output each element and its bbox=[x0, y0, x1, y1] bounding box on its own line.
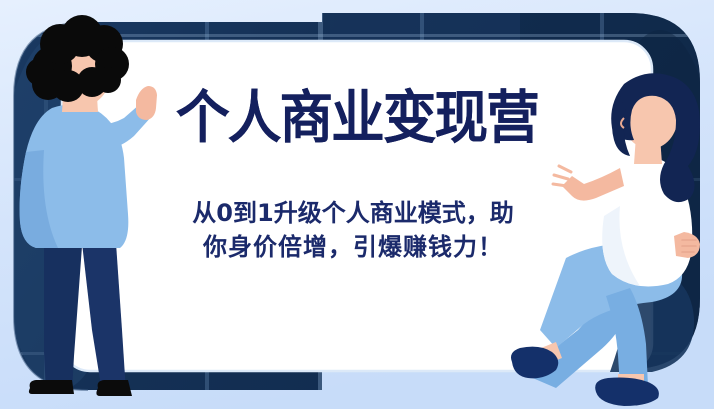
poster-subtitle-line-2: 你身价倍增，引爆赚钱力！ bbox=[143, 230, 563, 264]
poster-subtitle-line-1: 从0到1升级个人商业模式，助 bbox=[143, 196, 563, 230]
poster-canvas: 个人商业变现营 从0到1升级个人商业模式，助 你身价倍增，引爆赚钱力！ bbox=[0, 0, 714, 409]
poster-text-layer: 个人商业变现营 从0到1升级个人商业模式，助 你身价倍增，引爆赚钱力！ bbox=[0, 0, 714, 409]
poster-subtitle: 从0到1升级个人商业模式，助 你身价倍增，引爆赚钱力！ bbox=[143, 196, 563, 264]
poster-title: 个人商业变现营 bbox=[21, 88, 692, 148]
